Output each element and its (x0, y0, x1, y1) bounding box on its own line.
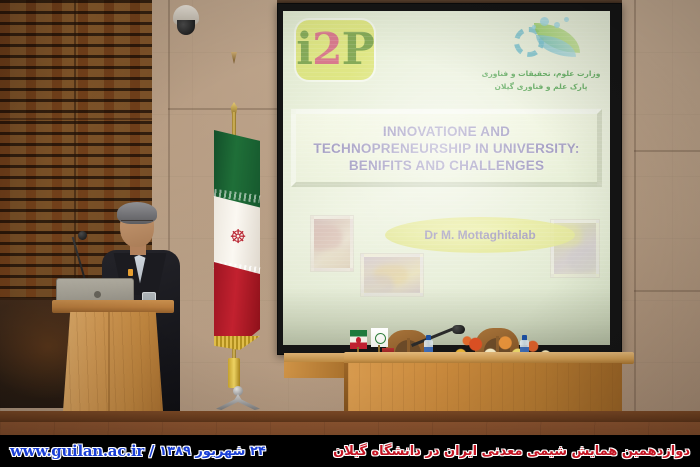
presentation-slide: i2P وزارت علوم، تحقیقات و فناوری پارک عل… (283, 11, 610, 287)
banner-website-url[interactable]: www.guilan.ac.ir (10, 442, 144, 460)
slide-title: INNOVATIONE AND TECHNOPRENEURSHIP IN UNI… (313, 123, 579, 174)
bottom-banner: ۲۴ شهریور ۱۳۸۹ / www.guilan.ac.ir دوازده… (0, 435, 700, 467)
flag-base-stand (216, 386, 260, 410)
wall-seam (634, 0, 636, 412)
iran-flag-on-stand: ☸ (206, 112, 268, 422)
podium-edge (108, 312, 110, 425)
thumb-blob (320, 249, 353, 271)
bubble-icon (540, 17, 549, 26)
thumb-blob (568, 247, 599, 273)
name-badge (128, 269, 133, 276)
bubble-icon (532, 25, 536, 29)
banner-date: ۲۴ شهریور ۱۳۸۹ (159, 444, 266, 459)
i2p-letter-i: i (296, 24, 312, 75)
laptop-logo-icon (94, 291, 101, 298)
presenter-name-oval: Dr M. Mottaghitalab (385, 217, 575, 253)
slide-title-line-3: BENIFITS AND CHALLENGES (313, 157, 579, 174)
slide-title-box: INNOVATIONE AND TECHNOPRENEURSHIP IN UNI… (291, 109, 602, 187)
i2p-logo-text: i2P (296, 28, 373, 72)
wall-seam (634, 150, 700, 152)
wall-seam (634, 290, 700, 292)
slide-title-line-1: INNOVATIONE AND (313, 123, 579, 140)
glasses-icon (121, 220, 153, 226)
microphone-arm (411, 326, 456, 346)
i2p-logo: i2P (296, 20, 374, 80)
wall-seam (168, 108, 278, 110)
iran-flag-cloth: ☸ (214, 130, 260, 345)
banner-left-group: ۲۴ شهریور ۱۳۸۹ / www.guilan.ac.ir (10, 442, 266, 460)
i2p-letter-p: P (342, 24, 374, 75)
panel-seam (0, 118, 152, 120)
flag-pole-grip (228, 358, 240, 388)
banner-separator: / (149, 442, 154, 460)
org-logo-mark (478, 17, 604, 67)
iran-emblem-icon: ☸ (228, 226, 248, 248)
bubble-icon (554, 22, 560, 28)
i2p-letter-2: 2 (312, 24, 342, 75)
podium-body (62, 312, 164, 425)
university-desk-flag (371, 328, 388, 350)
camera-dome (177, 20, 195, 35)
side-table-front (284, 362, 346, 378)
presenter-name: Dr M. Mottaghitalab (424, 228, 535, 242)
org-logo-line-2: پارک علم و فناوری گیلان (478, 80, 604, 93)
table-microphone (412, 326, 464, 352)
science-technology-park-logo: وزارت علوم، تحقیقات و فناوری پارک علم و … (478, 17, 604, 101)
podium-top (52, 300, 174, 313)
bubble-icon (564, 17, 569, 22)
panel-seam (74, 0, 76, 300)
conference-photo: i2P وزارت علوم، تحقیقات و فناوری پارک عل… (0, 0, 700, 467)
flag-base-legs (216, 394, 260, 410)
flag-band-red (214, 262, 260, 348)
podium-microphone (78, 231, 87, 240)
iran-desk-flag (350, 330, 367, 352)
slide-title-line-2: TECHNOPRENEURSHIP IN UNIVERSITY: (313, 140, 579, 157)
org-logo-line-1: وزارت علوم، تحقیقات و فناوری (478, 67, 604, 80)
microphone-capsule (452, 325, 465, 334)
ceiling-security-camera (173, 5, 199, 39)
flag-gold-fringe (214, 336, 260, 350)
thumb-blob (311, 225, 342, 251)
photo-thumbnail-left (311, 216, 353, 271)
banner-event-title: دوازدهمین همایش شیمی معدنی ایران در دانش… (333, 444, 690, 459)
projection-screen: i2P وزارت علوم، تحقیقات و فناوری پارک عل… (283, 11, 610, 345)
wooden-podium (52, 300, 174, 425)
